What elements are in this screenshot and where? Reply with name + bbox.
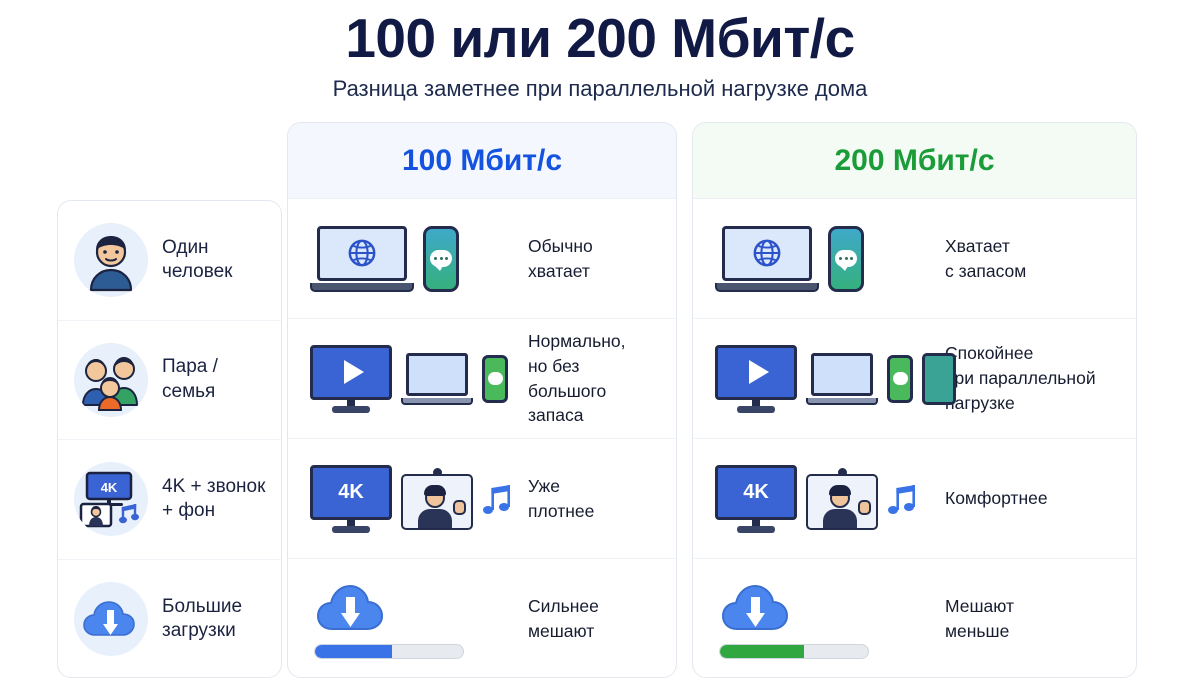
verdict-text: Сильнее мешают [522, 594, 599, 644]
laptop-icon [401, 353, 473, 405]
download-stack [715, 579, 869, 659]
cloud-download-icon [74, 582, 148, 656]
video-call-icon [806, 468, 878, 530]
phone-green-icon [482, 355, 508, 403]
cloud-download-icon [314, 579, 388, 637]
scenario-row-4k-call: 4K [58, 440, 281, 560]
download-progress-bar [719, 644, 869, 659]
cell-200-downloads: Мешают меньше [693, 559, 1136, 678]
scenario-row-one-person: Один человек [58, 201, 281, 321]
family-avatar-icon [74, 343, 148, 417]
single-person-avatar-icon [74, 223, 148, 297]
device-group: 4K [302, 439, 512, 558]
verdict-text: Нормально, но без большого запаса [522, 329, 662, 428]
plan-header-200: 200 Мбит/с [693, 123, 1136, 199]
svg-text:4K: 4K [101, 480, 118, 495]
cell-200-family: Спокойнее при параллельной нагрузке [693, 319, 1136, 439]
music-note-icon [887, 482, 917, 516]
device-group [302, 559, 512, 678]
plan-card-200: 200 Мбит/с [692, 122, 1137, 678]
device-group [707, 559, 929, 678]
scenario-card: Один человек [57, 200, 282, 678]
phone-chat-icon [423, 226, 459, 292]
cell-100-4k-call: 4K [288, 439, 676, 559]
verdict-text: Обычно хватает [522, 234, 593, 284]
phone-green-icon [887, 355, 913, 403]
tv-play-icon [310, 345, 392, 413]
tv-4k-badge: 4K [310, 465, 392, 520]
verdict-text: Спокойнее при параллельной нагрузке [939, 341, 1096, 416]
progress-fill [315, 645, 392, 658]
scenario-label-column: Один человек [57, 200, 282, 678]
verdict-text: Мешают меньше [939, 594, 1014, 644]
header: 100 или 200 Мбит/с Разница заметнее при … [0, 0, 1200, 102]
cell-200-4k-call: 4K [693, 439, 1136, 559]
cell-100-family: Нормально, но без большого запаса [288, 319, 676, 439]
plan-header-100: 100 Мбит/с [288, 123, 676, 199]
plan-column-200: 200 Мбит/с [692, 122, 1137, 678]
page-title: 100 или 200 Мбит/с [0, 10, 1200, 68]
laptop-globe-icon [310, 226, 414, 292]
download-progress-bar [314, 644, 464, 659]
scenario-label: 4K + звонок + фон [162, 475, 265, 524]
verdict-text: Хватает с запасом [939, 234, 1026, 284]
laptop-globe-icon [715, 226, 819, 292]
cell-100-downloads: Сильнее мешают [288, 559, 676, 678]
verdict-text: Комфортнее [939, 486, 1048, 511]
tv-4k-icon: 4K [715, 465, 797, 533]
cell-100-one-person: Обычно хватает [288, 199, 676, 319]
laptop-icon [806, 353, 878, 405]
plan-column-100: 100 Мбит/с [287, 122, 677, 678]
device-group [707, 319, 929, 438]
page-subtitle: Разница заметнее при параллельной нагруз… [0, 76, 1200, 102]
device-group [302, 199, 512, 318]
verdict-text: Уже плотнее [522, 474, 594, 524]
comparison-grid: Один человек [0, 122, 1200, 694]
phone-chat-icon [828, 226, 864, 292]
scenario-label: Большие загрузки [162, 595, 242, 644]
tv-4k-badge: 4K [715, 465, 797, 520]
scenario-label: Пара / семья [162, 355, 218, 404]
scenario-label: Один человек [162, 236, 232, 285]
tv-4k-videocall-icon: 4K [74, 462, 148, 536]
infographic-page: 100 или 200 Мбит/с Разница заметнее при … [0, 0, 1200, 694]
cloud-download-icon [719, 579, 793, 637]
scenario-row-family: Пара / семья [58, 321, 281, 441]
cell-200-one-person: Хватает с запасом [693, 199, 1136, 319]
music-note-icon [482, 482, 512, 516]
device-group: 4K [707, 439, 929, 558]
video-call-icon [401, 468, 473, 530]
progress-fill [720, 645, 804, 658]
plan-card-100: 100 Мбит/с [287, 122, 677, 678]
tv-play-icon [715, 345, 797, 413]
device-group [707, 199, 929, 318]
tablet-icon [922, 353, 956, 405]
scenario-row-downloads: Большие загрузки [58, 560, 281, 679]
device-group [302, 319, 512, 438]
download-stack [310, 579, 464, 659]
tv-4k-icon: 4K [310, 465, 392, 533]
